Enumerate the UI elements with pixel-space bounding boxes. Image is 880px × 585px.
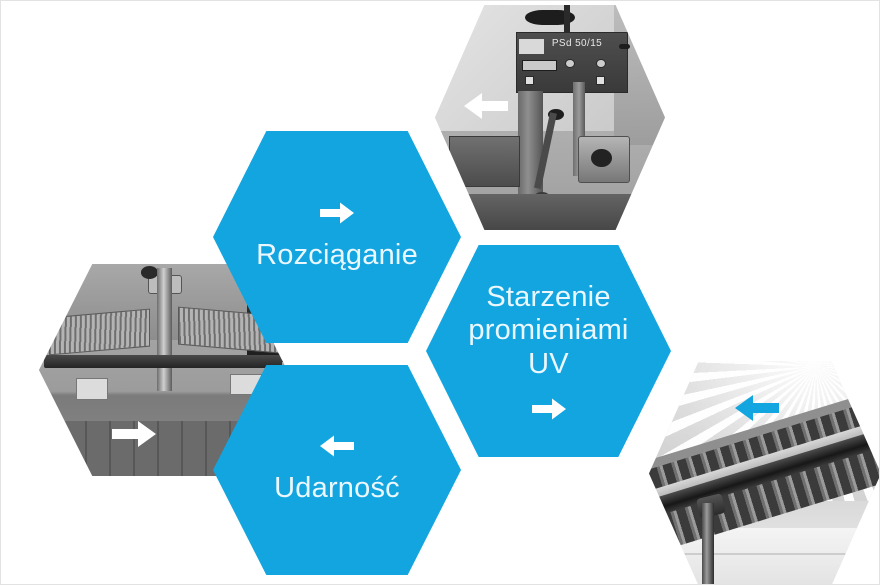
hex-label-starzenie-uv: Starzenie promieniami UV xyxy=(454,281,642,382)
hex-label-udarnosc: Udarność xyxy=(260,472,414,506)
machine-model-label: PSd 50/15 xyxy=(552,38,602,49)
arrow-left-icon-photo-roof-gutter xyxy=(734,393,780,423)
arrow-right-icon-photo-test-rig xyxy=(111,419,157,449)
hex-node-starzenie-uv[interactable]: Starzenie promieniami UV xyxy=(426,245,671,457)
arrow-left-icon-photo-impact-machine xyxy=(463,91,509,121)
arrow-right-icon-starzenie-uv xyxy=(531,397,567,421)
hex-label-rozciaganie: Rozciąganie xyxy=(242,239,432,273)
arrow-right-icon-rozciaganie xyxy=(319,201,355,225)
arrow-left-icon-udarnosc xyxy=(319,434,355,458)
diagram-canvas: PSd 50/15 xyxy=(0,0,880,585)
